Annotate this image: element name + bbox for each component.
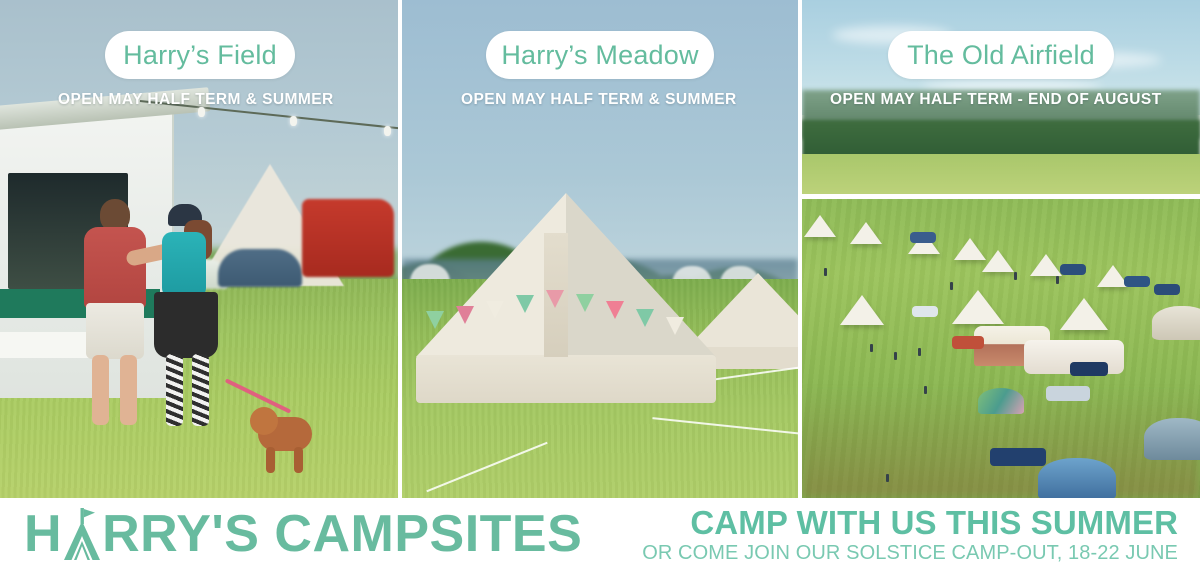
- bunting: [422, 289, 710, 319]
- bunting-flag: [426, 311, 444, 329]
- bunting-flag: [606, 301, 624, 319]
- logo-text-before: H: [24, 508, 62, 560]
- dog-leg: [294, 447, 303, 473]
- camper-person: [886, 474, 889, 482]
- panel-open-dates-the-old-airfield: OPEN MAY HALF TERM - END OF AUGUST: [830, 91, 1162, 109]
- parked-car: [1046, 386, 1090, 401]
- red-car: [302, 199, 394, 277]
- woman-leg: [192, 354, 209, 426]
- parked-car: [990, 448, 1046, 466]
- man-shorts: [86, 303, 144, 359]
- panel-title-pill-harrys-meadow[interactable]: Harry’s Meadow: [486, 31, 714, 79]
- bunting-flag: [666, 317, 684, 335]
- bunting-flag: [516, 295, 534, 313]
- parked-car: [1154, 284, 1180, 295]
- man-leg: [92, 355, 109, 425]
- person-woman: [150, 204, 226, 483]
- panel-title-text: Harry’s Meadow: [501, 40, 698, 71]
- festoon-bulb: [384, 126, 391, 136]
- panel-title-text: Harry’s Field: [123, 40, 277, 71]
- bell-tent-shadow-side: [566, 193, 716, 357]
- dog-leg: [266, 447, 275, 473]
- call-to-action: CAMP WITH US THIS SUMMER OR COME JOIN OU…: [642, 506, 1178, 565]
- bell-tent: [1152, 306, 1200, 340]
- camper-person: [1014, 272, 1017, 280]
- panel-open-dates-harrys-meadow: OPEN MAY HALF TERM & SUMMER: [461, 91, 737, 109]
- bell-tent: [952, 290, 1004, 324]
- bell-tent-wall: [416, 355, 716, 403]
- cta-headline: CAMP WITH US THIS SUMMER: [642, 506, 1178, 540]
- bunting-flag: [636, 309, 654, 327]
- bunting-flag: [456, 306, 474, 324]
- festoon-bulb: [290, 116, 297, 126]
- dome-tent-green: [978, 388, 1024, 414]
- cta-subline: OR COME JOIN OUR SOLSTICE CAMP-OUT, 18-2…: [642, 542, 1178, 565]
- camper-person: [924, 386, 927, 394]
- panel-title-pill-the-old-airfield[interactable]: The Old Airfield: [888, 31, 1114, 79]
- bunting-flag: [486, 301, 504, 319]
- parked-car: [1070, 362, 1108, 376]
- panel-harrys-field[interactable]: Harry’s Field OPEN MAY HALF TERM & SUMME…: [0, 0, 398, 498]
- bunting-flag: [546, 290, 564, 308]
- logo-text-after: RRY'S CAMPSITES: [102, 508, 582, 560]
- parked-car: [952, 336, 984, 349]
- campsites-promo-banner: Harry’s Field OPEN MAY HALF TERM & SUMME…: [0, 0, 1200, 579]
- panel-open-dates-harrys-field: OPEN MAY HALF TERM & SUMMER: [58, 91, 334, 109]
- bunting-flag: [576, 294, 594, 312]
- woman-skirt: [154, 292, 218, 358]
- camper-person: [918, 348, 921, 356]
- bell-tent: [1030, 254, 1062, 276]
- brand-logo[interactable]: H RRY'S CAMPSITES: [24, 508, 582, 560]
- tunnel-tent: [1144, 418, 1200, 460]
- woman-backpack: [162, 232, 206, 298]
- camper-person: [1056, 276, 1059, 284]
- dome-tent-blue: [1038, 458, 1116, 498]
- parked-car: [1060, 264, 1086, 275]
- bell-tent-main: [416, 193, 716, 403]
- woman-leg: [166, 354, 183, 426]
- bell-tent: [982, 250, 1014, 272]
- man-red-shirt: [84, 227, 146, 309]
- dog: [250, 407, 320, 473]
- camper-person: [824, 268, 827, 276]
- bell-tent: [1060, 298, 1108, 330]
- footer-bar: H RRY'S CAMPSITES CAMP WITH US THIS SUMM…: [0, 498, 1200, 579]
- camper-person: [894, 352, 897, 360]
- bell-tent: [804, 215, 836, 237]
- panel-title-text: The Old Airfield: [907, 40, 1095, 71]
- panel-title-pill-harrys-field[interactable]: Harry’s Field: [105, 31, 295, 79]
- bell-tent: [850, 222, 882, 244]
- dome-tent-blue: [218, 249, 302, 287]
- parked-car: [910, 232, 936, 243]
- panel-the-old-airfield[interactable]: The Old Airfield OPEN MAY HALF TERM - EN…: [802, 0, 1200, 498]
- camper-person: [870, 344, 873, 352]
- man-leg: [120, 355, 137, 425]
- tent-with-flag-icon: [62, 508, 102, 560]
- person-man: [78, 199, 152, 478]
- panel-harrys-meadow[interactable]: Harry’s Meadow OPEN MAY HALF TERM & SUMM…: [402, 0, 798, 498]
- parked-car: [912, 306, 938, 317]
- parked-car: [1124, 276, 1150, 287]
- dog-head: [250, 407, 278, 435]
- panel-strip: Harry’s Field OPEN MAY HALF TERM & SUMME…: [0, 0, 1200, 498]
- camper-person: [950, 282, 953, 290]
- bell-tent: [840, 295, 884, 325]
